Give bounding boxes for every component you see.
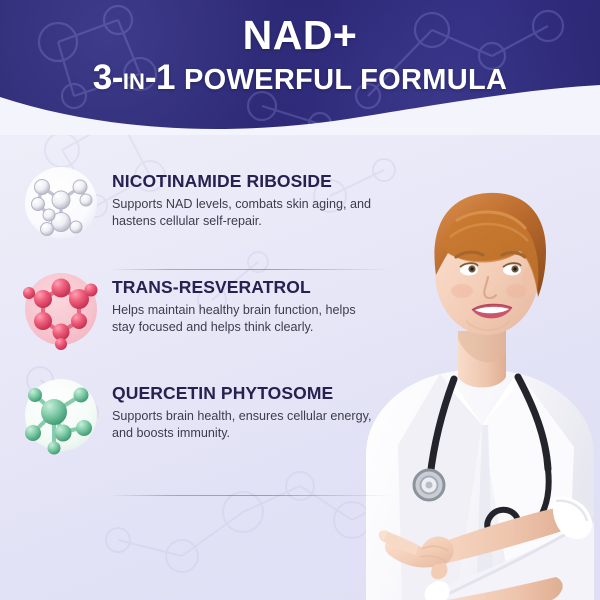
subtitle-number-1: -1 [145, 60, 175, 95]
subtitle-in: IN [123, 71, 145, 93]
feature-divider-2 [110, 495, 391, 496]
feature-item-nicotinamide-riboside: NICOTINAMIDE RIBOSIDE Supports NAD level… [18, 152, 383, 258]
feature-item-trans-resveratrol: TRANS-RESVERATROL Helps maintain healthy… [18, 258, 383, 364]
molecule-icon-white [18, 160, 104, 246]
subtitle-rest: POWERFUL FORMULA [184, 66, 507, 95]
molecule-icon-green [18, 372, 104, 458]
feature-text-block: QUERCETIN PHYTOSOME Supports brain healt… [112, 372, 383, 442]
feature-description: Helps maintain healthy brain function, h… [112, 302, 374, 335]
feature-text-block: NICOTINAMIDE RIBOSIDE Supports NAD level… [112, 160, 383, 230]
molecule-icon-pink [18, 266, 104, 352]
feature-list: NICOTINAMIDE RIBOSIDE Supports NAD level… [18, 152, 383, 470]
subtitle-number-3: 3- [93, 60, 123, 95]
header-title-group: NAD+ 3- IN -1 POWERFUL FORMULA [0, 0, 600, 110]
poster-canvas: NAD+ 3- IN -1 POWERFUL FORMULA [0, 0, 600, 600]
page-title: NAD+ [243, 15, 358, 56]
feature-text-block: TRANS-RESVERATROL Helps maintain healthy… [112, 266, 383, 336]
feature-title: TRANS-RESVERATROL [112, 278, 383, 297]
feature-item-quercetin-phytosome: QUERCETIN PHYTOSOME Supports brain healt… [18, 364, 383, 470]
feature-description: Supports brain health, ensures cellular … [112, 408, 374, 441]
feature-description: Supports NAD levels, combats skin aging,… [112, 196, 374, 229]
header-banner: NAD+ 3- IN -1 POWERFUL FORMULA [0, 0, 600, 135]
feature-title: QUERCETIN PHYTOSOME [112, 384, 383, 403]
feature-title: NICOTINAMIDE RIBOSIDE [112, 172, 383, 191]
page-subtitle: 3- IN -1 POWERFUL FORMULA [93, 60, 507, 95]
